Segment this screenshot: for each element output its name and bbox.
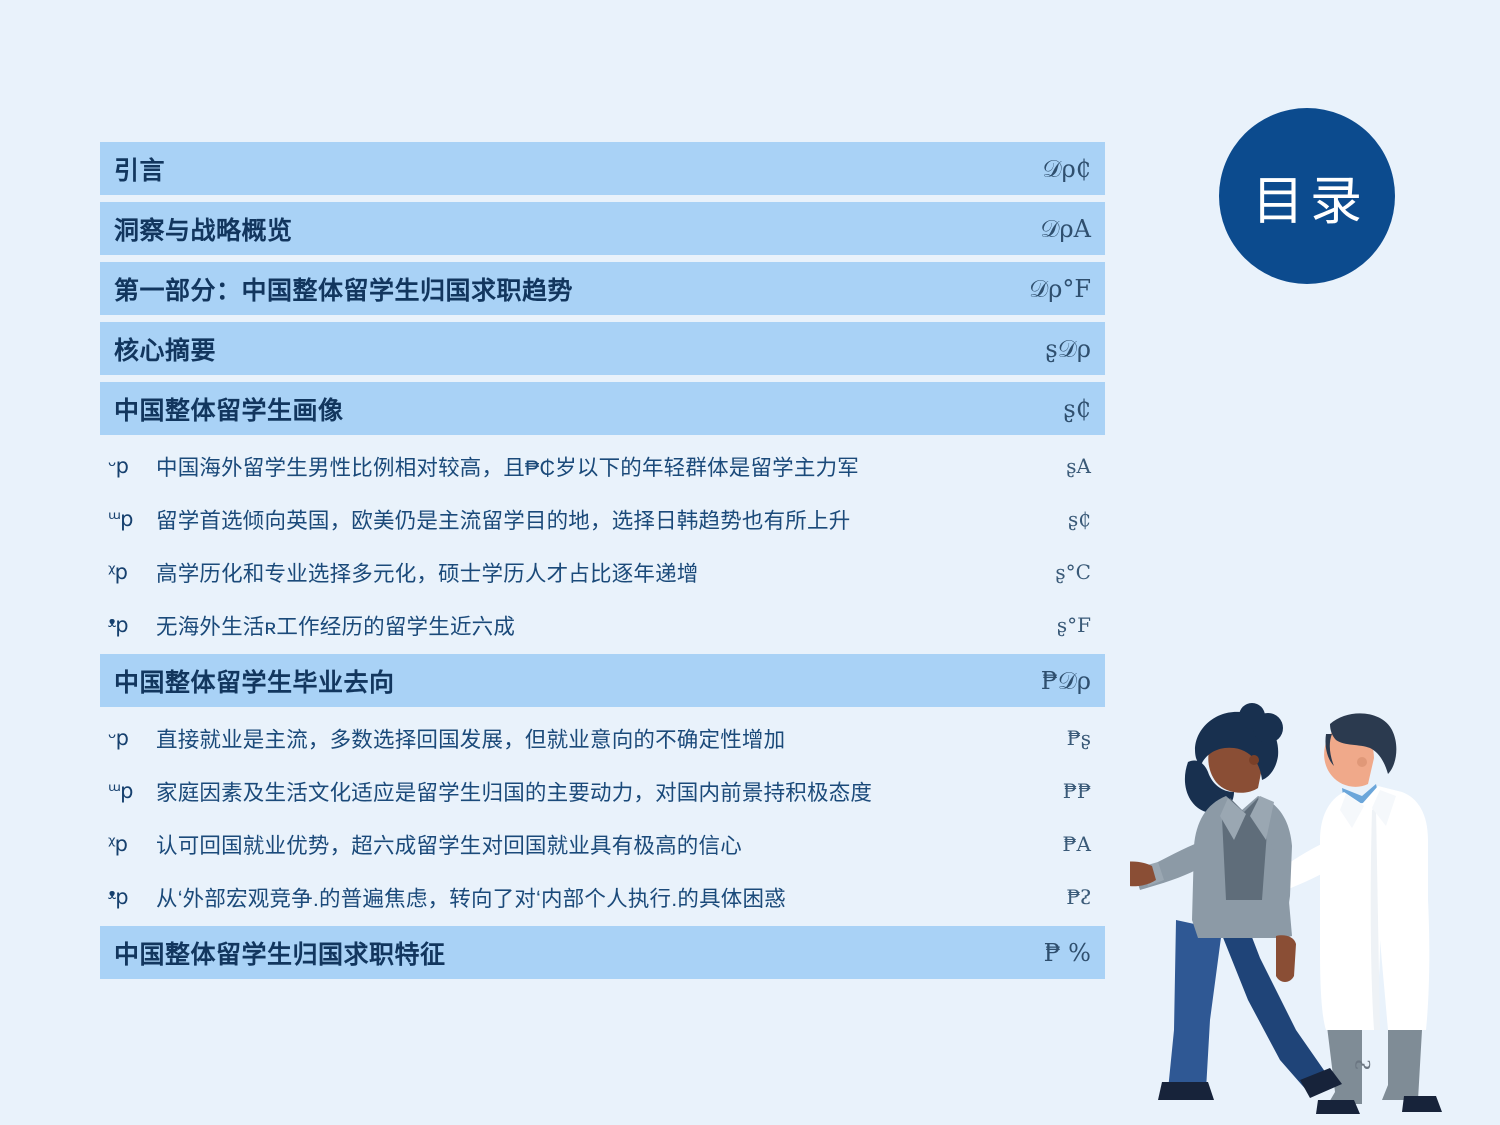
toc-item-title: 留学首选倾向英国，欧美仍是主流留学目的地，选择日韩趋势也有所上升 [156,504,1027,535]
toc-item-page-number: ʂ°F [1027,613,1091,637]
toc-item-marker: ᵜp [108,615,156,636]
toc-item-marker: ᵜp [108,887,156,908]
toc-item-title: 中国整体留学生画像 [114,391,1021,427]
toc-item-title: 无海外生活ʀ工作经历的留学生近六成 [156,610,1027,641]
toc-item-marker: ᵚp [108,781,156,802]
toc-section-row[interactable]: 中国整体留学生画像ʂ₵ [100,382,1105,435]
toc-badge-label: 目录 [1246,159,1368,234]
toc-item-title: 引言 [114,151,1021,187]
toc-item-title: 中国海外留学生男性比例相对较高，且₱₵岁以下的年轻群体是留学主力军 [156,451,1027,482]
toc-item-page-number: ʂ₵ [1027,507,1091,531]
toc-sub-row[interactable]: ᵚp留学首选倾向英国，欧美仍是主流留学目的地，选择日韩趋势也有所上升ʂ₵ [100,495,1105,543]
toc-item-page-number: ʂ𝒟ρ [1021,335,1091,363]
toc-item-page-number: ₱ᴤ [1027,885,1091,909]
toc-sub-row[interactable]: ᵕp直接就业是主流，多数选择回国发展，但就业意向的不确定性增加₱ʂ [100,714,1105,762]
toc-item-marker: ᵡp [108,562,156,583]
toc-item-marker: ᵕp [108,728,156,749]
toc-section-row[interactable]: 引言𝒟ρ₵ [100,142,1105,195]
table-of-contents: 引言𝒟ρ₵洞察与战略概览𝒟ρA第一部分：中国整体留学生归国求职趋势𝒟ρ°F核心摘… [100,142,1105,986]
toc-badge: 目录 [1219,108,1395,284]
toc-item-title: 第一部分：中国整体留学生归国求职趋势 [114,271,1021,307]
toc-section-row[interactable]: 第一部分：中国整体留学生归国求职趋势𝒟ρ°F [100,262,1105,315]
toc-item-title: 核心摘要 [114,331,1021,367]
toc-item-page-number: ʂ₵ [1021,395,1091,423]
toc-item-page-number: ₱A [1027,832,1091,856]
toc-sub-row[interactable]: ᵚp家庭因素及生活文化适应是留学生归国的主要动力，对国内前景持积极态度₱₱ [100,767,1105,815]
toc-item-title: 中国整体留学生毕业去向 [114,663,1021,699]
toc-item-title: 认可回国就业优势，超六成留学生对回国就业具有极高的信心 [156,829,1027,860]
toc-item-page-number: ʂ°C [1027,560,1091,584]
svg-text:ᴤ: ᴤ [1351,1059,1375,1070]
toc-item-title: 中国整体留学生归国求职特征 [114,935,1021,971]
toc-item-page-number: ʂA [1027,454,1091,478]
toc-item-title: 直接就业是主流，多数选择回国发展，但就业意向的不确定性增加 [156,723,1027,754]
toc-item-marker: ᵕp [108,456,156,477]
toc-item-title: 家庭因素及生活文化适应是留学生归国的主要动力，对国内前景持积极态度 [156,776,1027,807]
toc-sub-row[interactable]: ᵡp认可回国就业优势，超六成留学生对回国就业具有极高的信心₱A [100,820,1105,868]
toc-sub-row[interactable]: ᵜp从ʻ外部宏观竞争.的普遍焦虑，转向了对ʻ内部个人执行.的具体困惑₱ᴤ [100,873,1105,921]
toc-section-row[interactable]: 中国整体留学生毕业去向₱𝒟ρ [100,654,1105,707]
toc-sub-row[interactable]: ᵜp无海外生活ʀ工作经历的留学生近六成ʂ°F [100,601,1105,649]
toc-item-page-number: ₱₱ [1027,779,1091,803]
toc-sub-row[interactable]: ᵕp中国海外留学生男性比例相对较高，且₱₵岁以下的年轻群体是留学主力军ʂA [100,442,1105,490]
toc-item-title: 洞察与战略概览 [114,211,1021,247]
toc-sub-row[interactable]: ᵡp高学历化和专业选择多元化，硕士学历人才占比逐年递增ʂ°C [100,548,1105,596]
toc-item-page-number: ₱𝒟ρ [1021,667,1091,695]
toc-item-page-number: 𝒟ρ₵ [1021,155,1091,183]
toc-item-page-number: 𝒟ρ°F [1021,275,1091,303]
toc-item-page-number: ₱ % [1021,939,1091,967]
toc-item-page-number: 𝒟ρA [1021,215,1091,243]
toc-item-title: 从ʻ外部宏观竞争.的普遍焦虑，转向了对ʻ内部个人执行.的具体困惑 [156,882,1027,913]
toc-section-row[interactable]: 洞察与战略概览𝒟ρA [100,202,1105,255]
toc-item-page-number: ₱ʂ [1027,726,1091,750]
toc-section-row[interactable]: 核心摘要ʂ𝒟ρ [100,322,1105,375]
toc-section-row[interactable]: 中国整体留学生归国求职特征₱ % [100,926,1105,979]
toc-item-marker: ᵚp [108,509,156,530]
toc-item-title: 高学历化和专业选择多元化，硕士学历人才占比逐年递增 [156,557,1027,588]
toc-item-marker: ᵡp [108,834,156,855]
two-people-walking-illustration: ᴤ [1130,700,1500,1125]
